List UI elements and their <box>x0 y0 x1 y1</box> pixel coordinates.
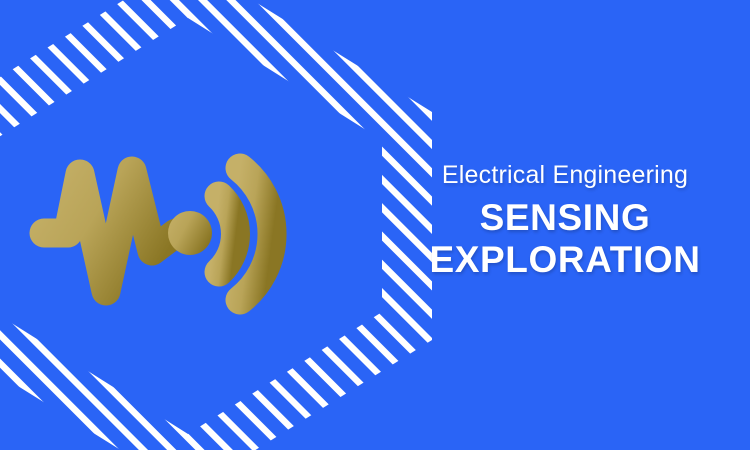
banner-text-block: Electrical Engineering SENSING EXPLORATI… <box>400 160 730 281</box>
waveform-path <box>44 171 176 291</box>
signal-arc-inner <box>219 196 236 272</box>
banner-headline-line2: EXPLORATION <box>400 239 730 281</box>
signal-source-dot <box>168 211 212 255</box>
promo-banner: Electrical Engineering SENSING EXPLORATI… <box>0 0 750 450</box>
banner-eyebrow: Electrical Engineering <box>400 160 730 191</box>
banner-headline-line1: SENSING <box>400 197 730 239</box>
